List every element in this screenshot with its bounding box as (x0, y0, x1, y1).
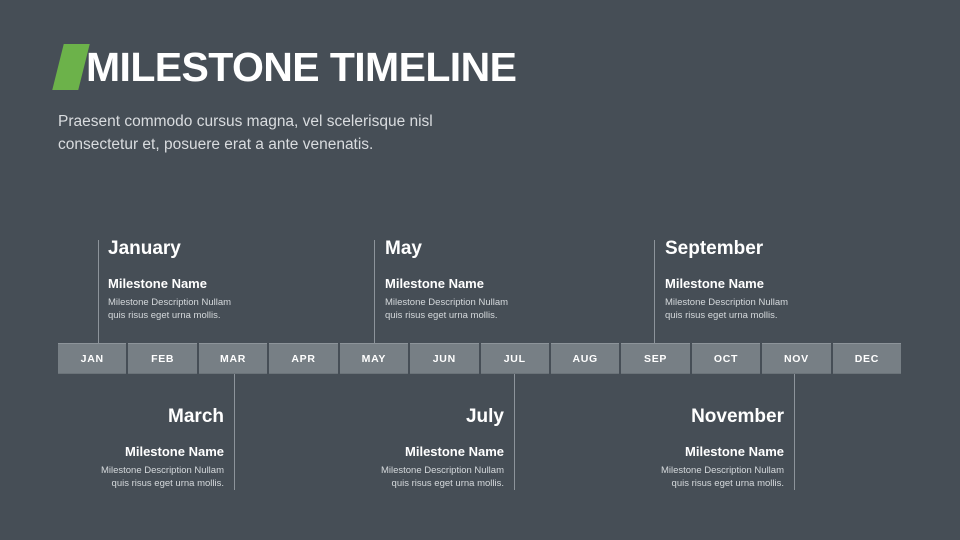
month-cell-jun[interactable]: JUN (410, 343, 478, 374)
month-label: APR (291, 353, 315, 365)
milestone-block-january[interactable]: January Milestone Name Milestone Descrip… (108, 238, 358, 322)
milestone-month: November (534, 406, 784, 428)
month-cell-jan[interactable]: JAN (58, 343, 126, 374)
milestone-description-line-1: Milestone Description Nullam (254, 464, 504, 477)
month-cell-oct[interactable]: OCT (692, 343, 760, 374)
milestone-description: Milestone Description Nullam quis risus … (254, 464, 504, 490)
month-label: JAN (81, 353, 104, 365)
milestone-block-july[interactable]: July Milestone Name Milestone Descriptio… (254, 406, 504, 490)
month-label: JUN (433, 353, 456, 365)
milestone-description-line-2: quis risus eget urna mollis. (665, 309, 915, 322)
milestone-description-line-2: quis risus eget urna mollis. (385, 309, 635, 322)
milestone-name: Milestone Name (665, 276, 915, 292)
connector-march (234, 374, 235, 490)
milestone-name: Milestone Name (385, 276, 635, 292)
month-cell-feb[interactable]: FEB (128, 343, 196, 374)
subtitle-line-1: Praesent commodo cursus magna, vel scele… (58, 110, 516, 133)
month-cell-jul[interactable]: JUL (481, 343, 549, 374)
month-bar: JAN FEB MAR APR MAY JUN JUL AUG SEP OCT … (58, 343, 901, 374)
month-label: DEC (855, 353, 879, 365)
milestone-description: Milestone Description Nullam quis risus … (108, 296, 358, 322)
month-label: OCT (714, 353, 738, 365)
milestone-description-line-2: quis risus eget urna mollis. (534, 477, 784, 490)
month-cell-mar[interactable]: MAR (199, 343, 267, 374)
milestone-description-line-1: Milestone Description Nullam (665, 296, 915, 309)
accent-slash-icon (52, 44, 89, 90)
month-cell-dec[interactable]: DEC (833, 343, 901, 374)
month-label: MAR (220, 353, 246, 365)
milestone-description-line-1: Milestone Description Nullam (108, 296, 358, 309)
milestone-month: May (385, 238, 635, 260)
milestone-month: March (0, 406, 224, 428)
month-cell-sep[interactable]: SEP (621, 343, 689, 374)
milestone-month: September (665, 238, 915, 260)
page-subtitle: Praesent commodo cursus magna, vel scele… (58, 110, 516, 156)
month-label: JUL (504, 353, 526, 365)
connector-july (514, 374, 515, 490)
milestone-block-march[interactable]: March Milestone Name Milestone Descripti… (0, 406, 224, 490)
milestone-description-line-1: Milestone Description Nullam (385, 296, 635, 309)
connector-september (654, 240, 655, 343)
milestone-description-line-2: quis risus eget urna mollis. (254, 477, 504, 490)
milestone-name: Milestone Name (254, 444, 504, 460)
milestone-month: January (108, 238, 358, 260)
milestone-name: Milestone Name (108, 276, 358, 292)
month-cell-may[interactable]: MAY (340, 343, 408, 374)
milestone-description-line-2: quis risus eget urna mollis. (108, 309, 358, 322)
milestone-description-line-1: Milestone Description Nullam (534, 464, 784, 477)
month-cell-aug[interactable]: AUG (551, 343, 619, 374)
header: MILESTONE TIMELINE Praesent commodo curs… (58, 44, 516, 156)
milestone-description-line-1: Milestone Description Nullam (0, 464, 224, 477)
milestone-block-may[interactable]: May Milestone Name Milestone Description… (385, 238, 635, 322)
milestone-name: Milestone Name (534, 444, 784, 460)
milestone-description: Milestone Description Nullam quis risus … (534, 464, 784, 490)
month-cell-nov[interactable]: NOV (762, 343, 830, 374)
month-label: AUG (572, 353, 597, 365)
milestone-name: Milestone Name (0, 444, 224, 460)
subtitle-line-2: consectetur et, posuere erat a ante vene… (58, 133, 516, 156)
connector-may (374, 240, 375, 343)
milestone-month: July (254, 406, 504, 428)
milestone-description: Milestone Description Nullam quis risus … (0, 464, 224, 490)
month-label: SEP (644, 353, 667, 365)
connector-november (794, 374, 795, 490)
title-row: MILESTONE TIMELINE (58, 44, 516, 90)
month-label: NOV (784, 353, 809, 365)
month-cell-apr[interactable]: APR (269, 343, 337, 374)
month-label: FEB (151, 353, 174, 365)
page-title: MILESTONE TIMELINE (86, 44, 516, 90)
milestone-description-line-2: quis risus eget urna mollis. (0, 477, 224, 490)
milestone-description: Milestone Description Nullam quis risus … (385, 296, 635, 322)
milestone-block-september[interactable]: September Milestone Name Milestone Descr… (665, 238, 915, 322)
milestone-block-november[interactable]: November Milestone Name Milestone Descri… (534, 406, 784, 490)
connector-january (98, 240, 99, 343)
slide-canvas: MILESTONE TIMELINE Praesent commodo curs… (0, 0, 960, 540)
milestone-description: Milestone Description Nullam quis risus … (665, 296, 915, 322)
month-label: MAY (362, 353, 386, 365)
